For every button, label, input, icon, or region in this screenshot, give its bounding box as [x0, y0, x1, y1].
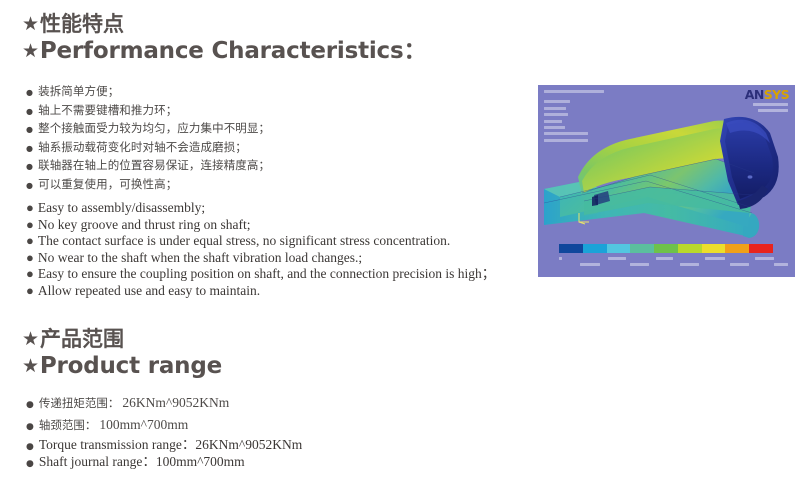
performance-heading-en-text: Performance Characteristics： [40, 38, 426, 64]
list-item-label: Allow repeated use and easy to maintain. [38, 283, 260, 300]
colorbar-band [583, 244, 607, 253]
list-item: ●装拆简单方便； [26, 82, 270, 101]
list-item-label: Torque transmission range：26KNm^9052KNm [39, 437, 302, 454]
bullet-icon: ● [26, 460, 34, 469]
colorbar-band [725, 244, 749, 253]
fea-header-line [544, 139, 588, 142]
bullet-icon: ● [26, 423, 34, 432]
list-item-label: No wear to the shaft when the shaft vibr… [38, 250, 362, 267]
list-item-label: 装拆简单方便； [38, 82, 119, 101]
list-item: ●Torque transmission range：26KNm^9052KNm [26, 437, 302, 454]
colorbar-band [654, 244, 678, 253]
product-range-heading-cn-text: 产品范围 [40, 327, 124, 351]
star-icon: ★ [22, 13, 39, 35]
performance-heading-block: ★性能特点 ★Performance Characteristics： [22, 12, 426, 65]
bullet-icon: ● [26, 201, 34, 214]
colorbar-tick [630, 263, 649, 266]
performance-heading-cn-text: 性能特点 [40, 12, 124, 36]
list-item: ●传递扭矩范围：26KNm^9052KNm [26, 392, 229, 414]
colorbar-tick [680, 263, 699, 266]
list-item-value: 26KNm^9052KNm [122, 392, 229, 413]
bullet-icon: ● [26, 126, 33, 134]
list-item: ●轴系振动载荷变化时对轴不会造成磨损； [26, 138, 270, 157]
fea-header-line [544, 113, 568, 116]
colorbar-band [678, 244, 702, 253]
product-range-heading-block: ★产品范围 ★Product range [22, 327, 222, 380]
coordinate-triad-icon [576, 211, 592, 225]
product-range-bullets-cn: ●传递扭矩范围：26KNm^9052KNm ●轴颈范围：100mm^700mm [26, 392, 229, 436]
list-item-label: 整个接触面受力较为均匀，应力集中不明显； [38, 119, 270, 138]
list-item: ●Allow repeated use and easy to maintain… [26, 283, 495, 300]
list-item: ●No key groove and thrust ring on shaft; [26, 217, 495, 234]
list-item-label: 联轴器在轴上的位置容易保证，连接精度高； [38, 156, 270, 175]
fea-date-block [753, 103, 788, 115]
list-item-label: 轴上不需要键槽和推力环； [38, 101, 177, 120]
list-item-label: Shaft journal range：100mm^700mm [39, 454, 245, 471]
fea-date-line [758, 109, 788, 112]
bullet-icon: ● [26, 108, 33, 116]
ansys-logo-sys: SYS [764, 87, 789, 102]
performance-heading-en: ★Performance Characteristics： [22, 37, 426, 65]
list-item-label: No key groove and thrust ring on shaft; [38, 217, 251, 234]
list-item-label: 轴颈范围： [39, 415, 97, 436]
bullet-icon: ● [26, 234, 34, 247]
colorbar-band [702, 244, 726, 253]
list-item-label: Easy to assembly/disassembly; [38, 200, 205, 217]
colorbar-band [607, 244, 631, 253]
list-item: ●Shaft journal range：100mm^700mm [26, 454, 302, 471]
bullet-icon: ● [26, 284, 34, 297]
ansys-fea-figure: ANSYS [538, 85, 795, 277]
fea-colorbar [559, 244, 773, 253]
colorbar-tick [608, 257, 626, 260]
list-item: ●轴上不需要键槽和推力环； [26, 101, 270, 120]
colorbar-tick [730, 263, 749, 266]
fea-header-line [544, 107, 566, 110]
fea-date-line [753, 103, 788, 106]
colorbar-band [630, 244, 654, 253]
list-item: ●可以重复使用，可换性高； [26, 175, 270, 194]
list-item: ●No wear to the shaft when the shaft vib… [26, 250, 495, 267]
list-item: ●联轴器在轴上的位置容易保证，连接精度高； [26, 156, 270, 175]
bullet-icon: ● [26, 401, 34, 410]
star-icon: ★ [22, 40, 39, 62]
list-item: ●Easy to ensure the coupling position on… [26, 266, 495, 283]
colorbar-tick [774, 263, 788, 266]
product-range-bullets-en: ●Torque transmission range：26KNm^9052KNm… [26, 437, 302, 470]
product-range-heading-en: ★Product range [22, 352, 222, 380]
colorbar-tick [755, 257, 774, 260]
list-item-label: 可以重复使用，可换性高； [38, 175, 177, 194]
fea-header-line [544, 90, 604, 93]
bullet-icon: ● [26, 89, 33, 97]
fea-colorbar-ticks [552, 256, 788, 270]
star-icon: ★ [22, 328, 39, 350]
bullet-icon: ● [26, 182, 33, 190]
bullet-icon: ● [26, 251, 34, 264]
fea-header-text-block [544, 90, 618, 145]
fea-header-line [544, 120, 562, 123]
colorbar-tick [559, 257, 562, 260]
colorbar-band [749, 244, 773, 253]
list-item: ●轴颈范围：100mm^700mm [26, 414, 229, 436]
bullet-icon: ● [26, 145, 33, 153]
product-range-heading-en-text: Product range [40, 353, 222, 379]
list-item-label: Easy to ensure the coupling position on … [38, 266, 495, 283]
list-item-label: The contact surface is under equal stres… [38, 233, 450, 250]
colorbar-tick [705, 257, 725, 260]
list-item-label: 轴系振动载荷变化时对轴不会造成磨损； [38, 138, 247, 157]
fea-header-line [544, 100, 570, 103]
bullet-icon: ● [26, 163, 33, 171]
product-spec-page: ★性能特点 ★Performance Characteristics： ●装拆简… [0, 0, 811, 477]
colorbar-tick [580, 263, 600, 266]
list-item-label: 传递扭矩范围： [39, 393, 120, 414]
ansys-logo: ANSYS [745, 88, 789, 101]
list-item: ●整个接触面受力较为均匀，应力集中不明显； [26, 119, 270, 138]
performance-heading-cn: ★性能特点 [22, 12, 426, 37]
bullet-icon: ● [26, 218, 34, 231]
ansys-logo-an: AN [745, 87, 764, 102]
performance-bullets-en: ●Easy to assembly/disassembly; ●No key g… [26, 200, 495, 299]
bullet-icon: ● [26, 443, 34, 452]
list-item: ●The contact surface is under equal stre… [26, 233, 495, 250]
bullet-icon: ● [26, 267, 34, 280]
fea-header-line [544, 126, 565, 129]
colorbar-tick [656, 257, 673, 260]
list-item-value: 100mm^700mm [99, 414, 188, 435]
star-icon: ★ [22, 355, 39, 377]
product-range-heading-cn: ★产品范围 [22, 327, 222, 352]
performance-bullets-cn: ●装拆简单方便； ●轴上不需要键槽和推力环； ●整个接触面受力较为均匀，应力集中… [26, 82, 270, 193]
fea-header-line [544, 132, 588, 135]
colorbar-band [559, 244, 583, 253]
list-item: ●Easy to assembly/disassembly; [26, 200, 495, 217]
